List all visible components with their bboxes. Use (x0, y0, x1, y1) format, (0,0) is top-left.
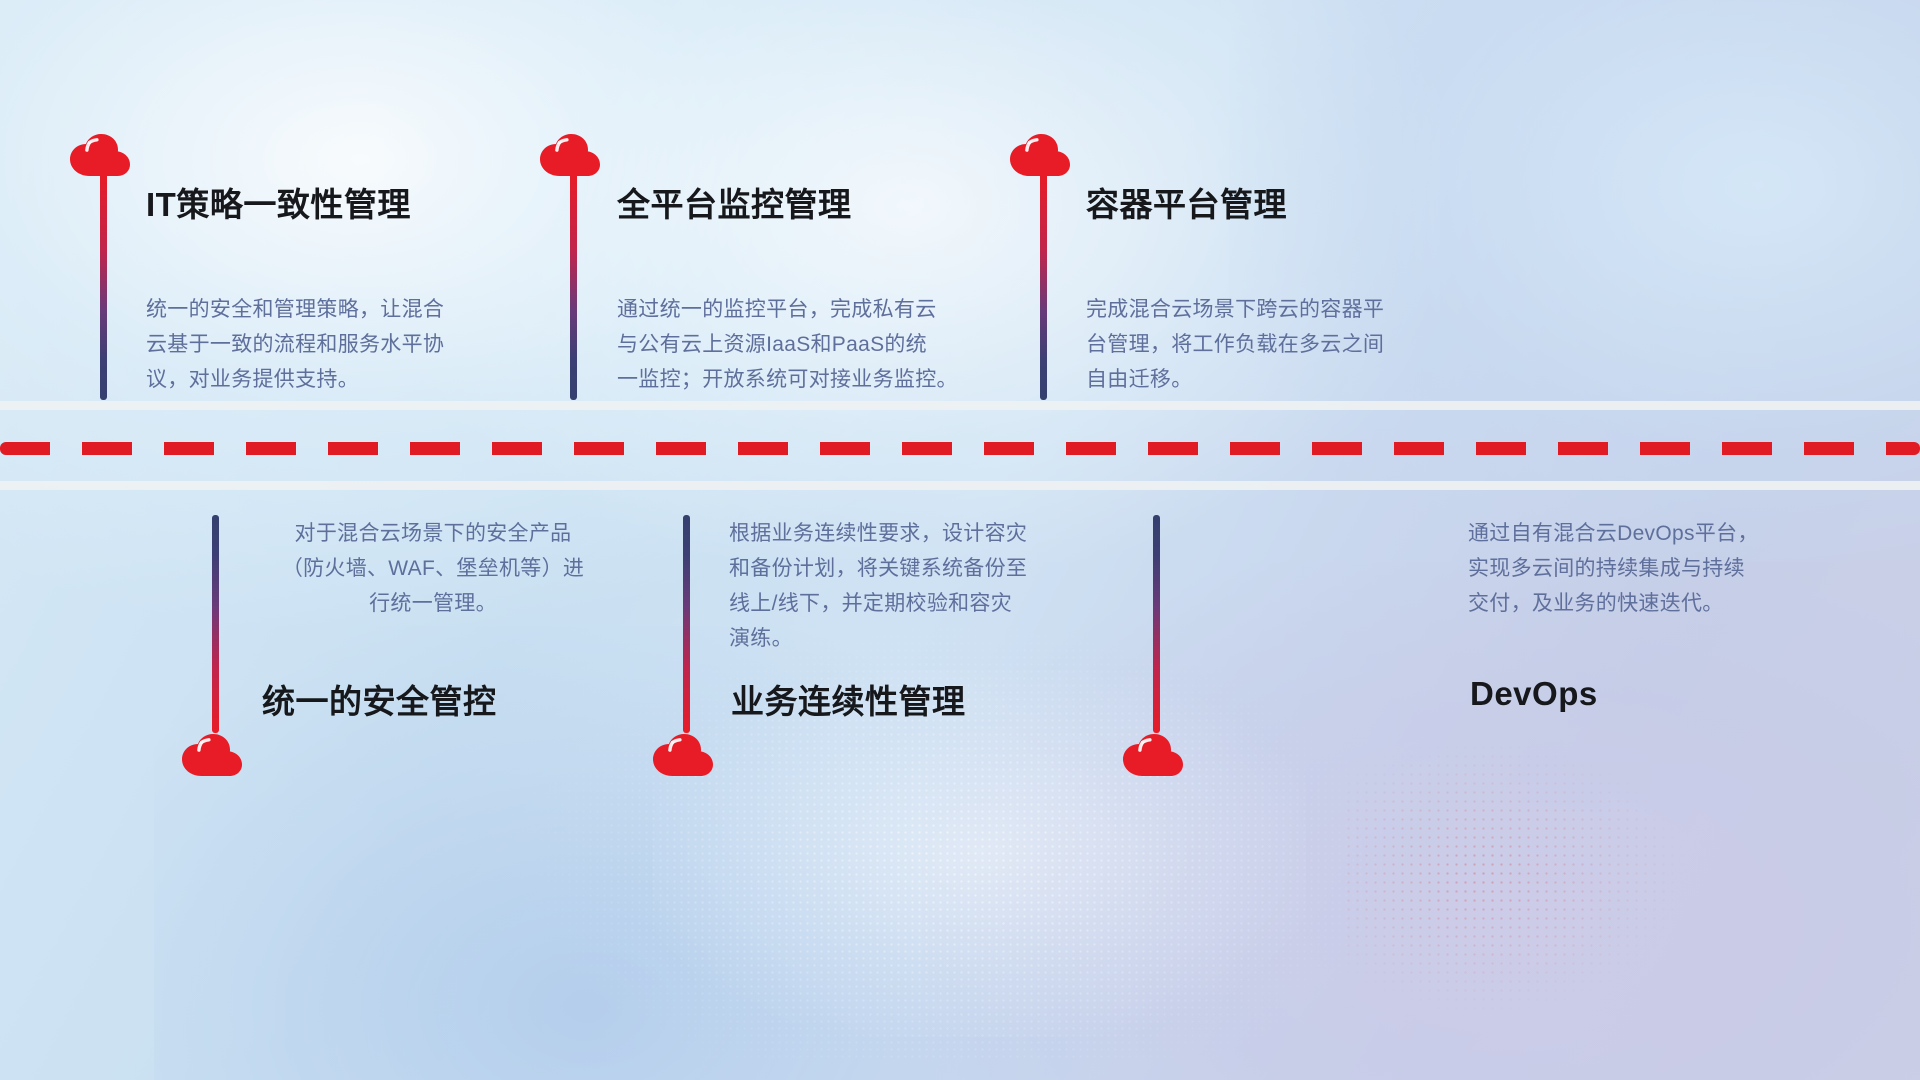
top-item-2-description: 通过统一的监控平台，完成私有云 与公有云上资源IaaS和PaaS的统 一监控；开… (617, 292, 1017, 397)
bottom-item-3-description: 通过自有混合云DevOps平台， 实现多云间的持续集成与持续 交付，及业务的快速… (1468, 516, 1808, 621)
background-dot-texture-red (1344, 734, 1690, 1015)
top-item-3-title: 容器平台管理 (1086, 178, 1287, 226)
cloud-icon (1009, 133, 1071, 177)
infographic-canvas: IT策略一致性管理 统一的安全和管理策略，让混合 云基于一致的流程和服务水平协 … (0, 0, 1920, 1080)
connector-stem (100, 173, 107, 400)
connector-stem (1153, 515, 1160, 733)
top-item-1-description: 统一的安全和管理策略，让混合 云基于一致的流程和服务水平协 议，对业务提供支持。 (146, 292, 506, 397)
bottom-item-2-title: 业务连续性管理 (731, 675, 966, 723)
divider-dashed-line (0, 442, 1920, 455)
top-item-3-description: 完成混合云场景下跨云的容器平 台管理，将工作负载在多云之间 自由迁移。 (1086, 292, 1461, 397)
top-item-2-title: 全平台监控管理 (617, 178, 852, 226)
cloud-icon (69, 133, 131, 177)
cloud-icon (1122, 733, 1184, 777)
cloud-icon (539, 133, 601, 177)
connector-stem (683, 515, 690, 733)
divider-line-upper (0, 401, 1920, 410)
bottom-item-3-title: DevOps (1470, 675, 1598, 713)
cloud-icon (181, 733, 243, 777)
bottom-item-1-title: 统一的安全管控 (262, 675, 497, 723)
bottom-item-1-description: 对于混合云场景下的安全产品 （防火墙、WAF、堡垒机等）进 行统一管理。 (258, 516, 608, 621)
background-glow-top-right (1229, 0, 1920, 562)
connector-stem (1040, 173, 1047, 400)
connector-stem (212, 515, 219, 733)
bottom-item-2-description: 根据业务连续性要求，设计容灾 和备份计划，将关键系统备份至 线上/线下，并定期校… (729, 516, 1079, 656)
cloud-icon (652, 733, 714, 777)
divider-line-lower (0, 481, 1920, 490)
top-item-1-title: IT策略一致性管理 (146, 178, 411, 226)
connector-stem (570, 173, 577, 400)
